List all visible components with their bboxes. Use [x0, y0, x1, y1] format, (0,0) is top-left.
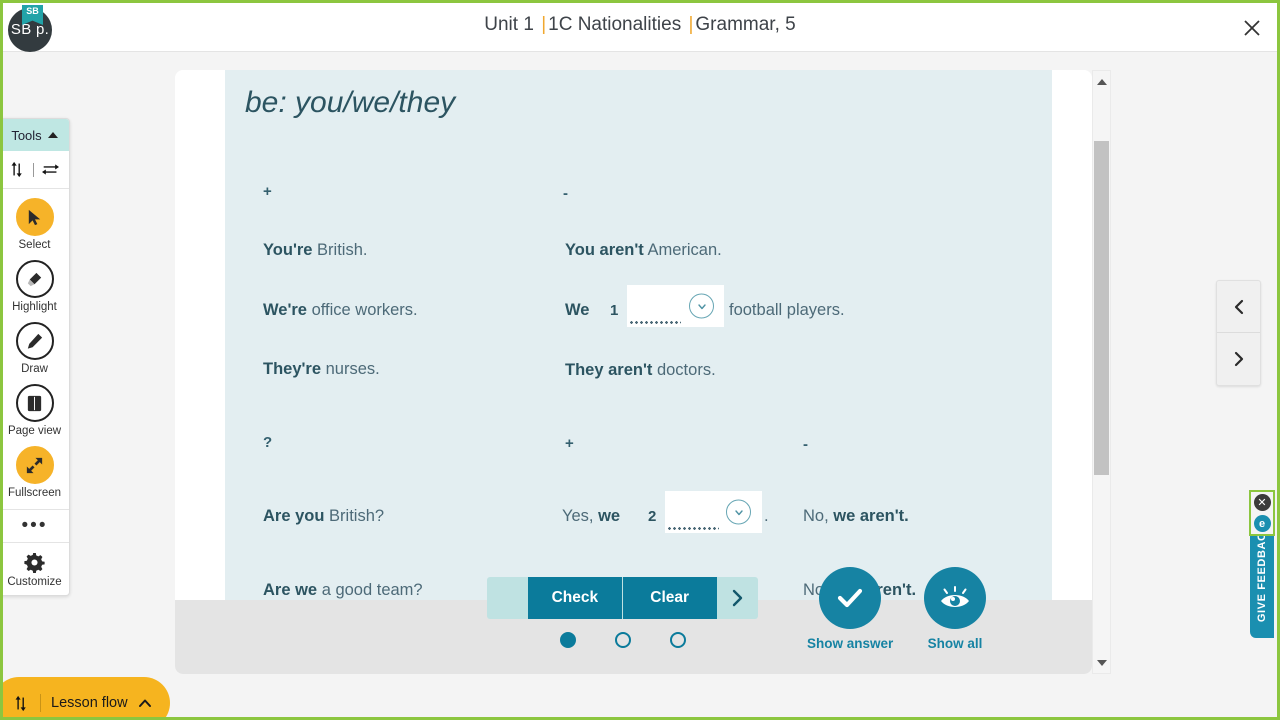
pagination-dot-1[interactable] [560, 632, 576, 648]
title-unit: Unit 1 [484, 14, 539, 35]
exercise-action-group: Check Clear [487, 577, 758, 619]
exercise-title-pronouns: you/we/they [295, 86, 455, 119]
exercise-title-verb: be [245, 86, 278, 119]
row-3-col-2-rest: doctors. [652, 361, 715, 379]
e-circle-icon[interactable]: e [1254, 515, 1271, 532]
chevron-down-icon [689, 294, 714, 319]
table-qrow-1-col-3: No, we aren't. [803, 507, 909, 526]
table-row-2-col-2-pronoun: We [565, 301, 589, 320]
chevron-right-icon [1230, 350, 1248, 368]
tool-highlight-label: Highlight [12, 301, 57, 313]
gap-2-dropdown[interactable] [665, 491, 762, 533]
show-all-button[interactable]: Show all [924, 567, 986, 651]
tool-highlight[interactable]: Highlight [0, 251, 69, 313]
action-group-spacer [487, 577, 528, 619]
gap-1-number: 1 [610, 302, 618, 319]
chevron-down-icon [726, 500, 751, 525]
table-row-3-col-1: They're nurses. [263, 360, 380, 379]
table-row-2-col-2-rest: football players. [729, 301, 845, 320]
symbol-minus-2: - [803, 436, 808, 453]
pencil-icon [24, 331, 45, 352]
show-all-label: Show all [928, 636, 983, 651]
gap-1-underline [629, 321, 681, 324]
close-button[interactable] [1239, 15, 1265, 41]
symbol-minus-1: - [563, 185, 568, 202]
gap-1-dropdown[interactable] [627, 285, 724, 327]
tools-panel-header[interactable]: Tools [0, 119, 69, 151]
table-qrow-1-col-1: Are you British? [263, 507, 384, 526]
row-2-col-1-bold: We're [263, 301, 307, 319]
table-row-3-col-2: They aren't doctors. [565, 361, 716, 380]
expand-icon [24, 455, 45, 476]
lesson-flow-label: Lesson flow [51, 695, 128, 711]
close-icon [1242, 18, 1262, 38]
row-3-col-1-rest: nurses. [321, 360, 380, 378]
row-2-col-1-rest: office workers. [307, 301, 418, 319]
exercise-title-colon: : [278, 86, 295, 119]
scroll-up-button[interactable] [1093, 73, 1110, 90]
pagination-dot-3[interactable] [670, 632, 686, 648]
qrow-1-col-1-bold: Are you [263, 507, 324, 525]
tool-fullscreen-label: Fullscreen [8, 487, 61, 499]
book-icon [25, 394, 44, 413]
give-feedback-label: GIVE FEEDBACK [1256, 524, 1268, 622]
cursor-arrow-icon [25, 208, 44, 227]
title-separator-1: | [539, 14, 548, 35]
triangle-down-icon [1097, 660, 1107, 666]
vertical-resize-icon[interactable] [9, 161, 26, 178]
row-1-col-1-bold: You're [263, 241, 312, 259]
tool-page-view[interactable]: Page view [0, 375, 69, 437]
scrollbar-thumb[interactable] [1094, 141, 1109, 475]
row-1-col-2-rest: American. [644, 241, 722, 259]
qrow-1-col-2-bold: we [598, 507, 620, 525]
qrow-2-col-1-bold: Are we [263, 581, 317, 599]
symbol-question: ? [263, 434, 272, 451]
tools-more-button[interactable]: ••• [0, 509, 69, 543]
tools-resize-row [0, 151, 69, 189]
tool-select-label: Select [19, 239, 51, 251]
eye-icon [937, 582, 973, 614]
tool-page-view-label: Page view [8, 425, 61, 437]
tool-highlight-circle [16, 260, 54, 298]
tool-draw-circle [16, 322, 54, 360]
triangle-up-icon [1097, 79, 1107, 85]
table-row-1-col-1: You're British. [263, 241, 367, 260]
gap-2-underline [667, 527, 719, 530]
gear-icon [24, 552, 45, 573]
tool-draw[interactable]: Draw [0, 313, 69, 375]
check-button[interactable]: Check [528, 577, 622, 619]
table-qrow-1-col-2-post: . [764, 507, 769, 526]
tool-customize-label: Customize [7, 576, 61, 588]
chevron-right-icon [727, 588, 747, 608]
next-page-button[interactable] [1217, 333, 1260, 385]
show-answer-label: Show answer [807, 636, 893, 651]
lesson-flow-button[interactable]: Lesson flow [0, 677, 170, 720]
qrow-1-col-3-pre: No, [803, 507, 833, 525]
lesson-flow-divider [40, 694, 41, 712]
tool-select[interactable]: Select [0, 189, 69, 251]
qrow-1-col-1-rest: British? [324, 507, 384, 525]
application-window: SB p. SB Unit 1 |1C Nationalities |Gramm… [0, 0, 1280, 720]
tool-draw-label: Draw [21, 363, 48, 375]
chevron-left-icon [1230, 298, 1248, 316]
chevron-up-icon [138, 698, 152, 708]
symbol-plus-1: + [263, 183, 272, 200]
feedback-badge-group: ✕ e [1249, 490, 1275, 536]
qrow-1-col-3-bold: we aren't. [833, 507, 908, 525]
symbol-plus-2: + [565, 435, 574, 452]
table-qrow-2-col-1: Are we a good team? [263, 581, 423, 600]
page-title: Unit 1 |1C Nationalities |Grammar, 5 [3, 14, 1277, 36]
check-icon [833, 581, 867, 615]
row-2-col-2-rest: football players. [729, 301, 845, 319]
show-answer-circle [819, 567, 881, 629]
show-all-circle [924, 567, 986, 629]
pagination-dot-2[interactable] [615, 632, 631, 648]
table-row-2-col-1: We're office workers. [263, 301, 418, 320]
title-lesson: 1C Nationalities [548, 14, 686, 35]
highlighter-icon [24, 269, 45, 290]
row-1-col-1-rest: British. [312, 241, 367, 259]
tools-panel-label: Tools [11, 128, 41, 143]
qrow-1-col-2-pre: Yes, [562, 507, 598, 525]
row-3-col-1-bold: They're [263, 360, 321, 378]
row-3-col-2-bold: They aren't [565, 361, 652, 379]
qrow-1-col-2-post: . [764, 507, 769, 525]
tool-customize[interactable]: Customize [0, 543, 69, 595]
vertical-scrollbar[interactable] [1092, 70, 1111, 674]
exercise-title: be: you/we/they [245, 86, 455, 120]
exercise-toolbar: Check Clear Show answer [175, 600, 1092, 674]
table-qrow-1-col-2-pre: Yes, we [562, 507, 620, 526]
show-answer-button[interactable]: Show answer [807, 567, 893, 651]
horizontal-resize-icon[interactable] [41, 161, 60, 178]
top-header-bar: SB p. SB Unit 1 |1C Nationalities |Gramm… [3, 3, 1277, 52]
tools-panel: Tools Sele [0, 118, 70, 596]
chevron-up-icon [48, 132, 58, 138]
table-row-1-col-2: You aren't American. [565, 241, 722, 260]
close-circle-icon[interactable]: ✕ [1254, 494, 1271, 511]
tools-divider [33, 163, 34, 177]
page-navigation [1216, 280, 1261, 386]
tool-fullscreen-circle [16, 446, 54, 484]
gap-2-number: 2 [648, 508, 656, 525]
previous-page-button[interactable] [1217, 281, 1260, 333]
row-1-col-2-bold: You aren't [565, 241, 644, 259]
title-section: Grammar, 5 [695, 14, 795, 35]
scroll-down-button[interactable] [1093, 654, 1110, 671]
tool-fullscreen[interactable]: Fullscreen [0, 437, 69, 499]
tool-page-view-circle [16, 384, 54, 422]
next-exercise-button[interactable] [717, 577, 758, 619]
tool-select-circle [16, 198, 54, 236]
qrow-2-col-1-rest: a good team? [317, 581, 423, 599]
exercise-pagination [487, 632, 758, 648]
row-2-col-2-bold: We [565, 301, 589, 319]
clear-button[interactable]: Clear [623, 577, 717, 619]
vertical-resize-icon [13, 695, 30, 712]
